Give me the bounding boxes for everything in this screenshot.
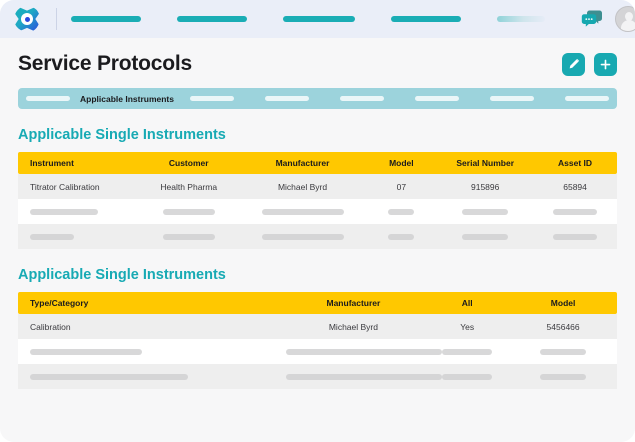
tab-placeholder-5[interactable] [415,96,459,101]
nav-right-actions [581,6,635,32]
skeleton-bar [442,349,492,355]
chat-bubble-icon[interactable] [581,9,603,29]
logo-inner-glyph [21,13,33,25]
nav-divider [56,8,57,30]
tab-placeholder-1[interactable] [26,96,70,101]
skeleton-bar [262,234,344,240]
nav-menu-item-1[interactable] [71,16,141,22]
cell-customer: Health Pharma [138,174,240,199]
tab-active-label[interactable]: Applicable Instruments [70,94,184,104]
skeleton-cell [18,339,282,364]
skeleton-cell [240,224,366,249]
header-actions [562,53,617,76]
skeleton-cell [240,199,366,224]
plus-icon [599,58,612,71]
col-header-asset-id[interactable]: Asset ID [533,152,617,174]
cell-manufacturer: Michael Byrd [282,314,426,339]
skeleton-cell [282,364,426,389]
skeleton-bar [442,374,492,380]
instruments-table-2: Type/Category Manufacturer All Model Cal… [18,292,617,389]
page-header: Service Protocols [0,38,635,76]
skeleton-cell [282,339,426,364]
skeleton-bar [388,234,414,240]
user-avatar[interactable] [615,6,635,32]
cell-manufacturer: Michael Byrd [240,174,366,199]
skeleton-bar [30,209,98,215]
section-title: Applicable Single Instruments [18,267,617,283]
table-row[interactable]: Titrator Calibration Health Pharma Micha… [18,174,617,199]
skeleton-bar [163,234,215,240]
nav-menu-item-2[interactable] [177,16,247,22]
section-title: Applicable Single Instruments [18,127,617,143]
tab-placeholder-7[interactable] [565,96,609,101]
col-header-all[interactable]: All [425,292,509,314]
skeleton-cell [138,224,240,249]
skeleton-bar [30,374,188,380]
col-header-model[interactable]: Model [509,292,617,314]
col-header-instrument[interactable]: Instrument [18,152,138,174]
skeleton-cell [509,364,617,389]
skeleton-bar [286,374,442,380]
cell-instrument: Titrator Calibration [18,174,138,199]
cell-all: Yes [425,314,509,339]
section-applicable-single-instruments-2: Applicable Single Instruments Type/Categ… [18,267,617,389]
skeleton-bar [30,349,142,355]
pencil-icon [567,58,580,71]
table-row-skeleton [18,224,617,249]
skeleton-cell [18,224,138,249]
avatar-body [621,20,635,32]
cell-serial-number: 915896 [437,174,533,199]
col-header-customer[interactable]: Customer [138,152,240,174]
col-header-manufacturer[interactable]: Manufacturer [240,152,366,174]
col-header-type-category[interactable]: Type/Category [18,292,282,314]
nav-menu-item-4[interactable] [391,16,461,22]
cell-model: 07 [365,174,437,199]
skeleton-cell [365,199,437,224]
col-header-serial-number[interactable]: Serial Number [437,152,533,174]
skeleton-bar [553,209,597,215]
skeleton-bar [540,374,586,380]
skeleton-cell [437,224,533,249]
section-applicable-single-instruments-1: Applicable Single Instruments Instrument… [18,127,617,249]
skeleton-cell [138,199,240,224]
app-logo-icon[interactable] [14,6,40,32]
skeleton-bar [553,234,597,240]
cell-model: 5456466 [509,314,617,339]
skeleton-bar [462,209,508,215]
col-header-model[interactable]: Model [365,152,437,174]
skeleton-bar [262,209,344,215]
skeleton-cell [509,339,617,364]
skeleton-bar [462,234,508,240]
skeleton-cell [18,364,282,389]
app-window: Service Protocols Applica [0,0,635,442]
tab-placeholder-2[interactable] [190,96,234,101]
skeleton-cell [365,224,437,249]
nav-menu-items [71,16,581,22]
skeleton-cell [18,199,138,224]
skeleton-cell [533,199,617,224]
cell-asset-id: 65894 [533,174,617,199]
add-button[interactable] [594,53,617,76]
nav-menu-item-3[interactable] [283,16,355,22]
top-navigation-bar [0,0,635,38]
tab-placeholder-3[interactable] [265,96,309,101]
page-title: Service Protocols [18,52,192,76]
instruments-table-1: Instrument Customer Manufacturer Model S… [18,152,617,249]
skeleton-bar [540,349,586,355]
edit-button[interactable] [562,53,585,76]
tab-strip: Applicable Instruments [18,88,617,109]
skeleton-bar [286,349,442,355]
skeleton-cell [437,199,533,224]
table-header-row: Type/Category Manufacturer All Model [18,292,617,314]
table-row[interactable]: Calibration Michael Byrd Yes 5456466 [18,314,617,339]
cell-type-category: Calibration [18,314,282,339]
table-row-skeleton [18,364,617,389]
table-row-skeleton [18,339,617,364]
table-row-skeleton [18,199,617,224]
skeleton-bar [388,209,414,215]
skeleton-cell [533,224,617,249]
table-header-row: Instrument Customer Manufacturer Model S… [18,152,617,174]
page-content: Service Protocols Applica [0,38,635,442]
skeleton-bar [163,209,215,215]
tab-placeholder-6[interactable] [490,96,534,101]
nav-menu-item-5[interactable] [497,16,545,22]
skeleton-bar [30,234,74,240]
tab-placeholder-4[interactable] [340,96,384,101]
col-header-manufacturer[interactable]: Manufacturer [282,292,426,314]
